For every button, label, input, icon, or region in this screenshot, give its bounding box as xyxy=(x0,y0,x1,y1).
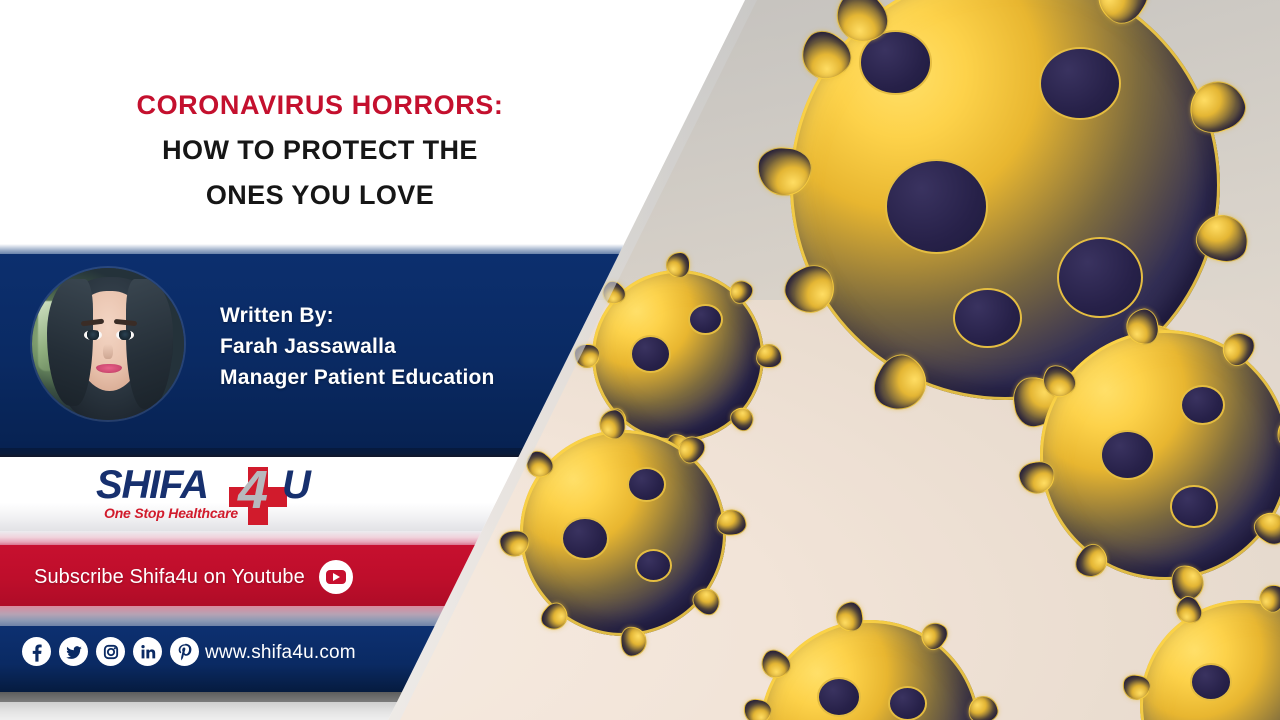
shifa4u-logo[interactable]: SHIFA 4 U One Stop Healthcare xyxy=(96,461,336,525)
subscribe-button[interactable]: Subscribe Shifa4u on Youtube xyxy=(34,560,353,594)
instagram-icon[interactable] xyxy=(96,637,125,666)
logo-word-main: SHIFA xyxy=(96,463,208,508)
page-title: CORONAVIRUS HORRORS: HOW TO PROTECT THE … xyxy=(0,88,640,213)
virus-particle-mid-left xyxy=(520,430,726,636)
author-name: Farah Jassawalla xyxy=(220,331,495,362)
twitter-icon[interactable] xyxy=(59,637,88,666)
logo-word-number: 4 xyxy=(238,459,266,521)
written-by-label: Written By: xyxy=(220,300,495,331)
pinterest-icon[interactable] xyxy=(170,637,199,666)
social-links xyxy=(22,637,199,666)
author-role: Manager Patient Education xyxy=(220,362,495,393)
title-line-1: CORONAVIRUS HORRORS: xyxy=(0,88,640,123)
virus-particle-right xyxy=(1040,330,1280,580)
avatar xyxy=(32,268,184,420)
youtube-play-icon[interactable] xyxy=(319,560,353,594)
logo-word-end: U xyxy=(282,463,310,508)
author-details: Written By: Farah Jassawalla Manager Pat… xyxy=(220,300,495,393)
promo-card: CORONAVIRUS HORRORS: HOW TO PROTECT THE … xyxy=(0,0,1280,720)
title-line-2: HOW TO PROTECT THE xyxy=(0,133,640,168)
linkedin-icon[interactable] xyxy=(133,637,162,666)
website-url[interactable]: www.shifa4u.com xyxy=(205,642,356,664)
facebook-icon[interactable] xyxy=(22,637,51,666)
logo-tagline: One Stop Healthcare xyxy=(104,505,238,521)
title-line-3: ONES YOU LOVE xyxy=(0,178,640,213)
subscribe-label: Subscribe Shifa4u on Youtube xyxy=(34,566,305,589)
